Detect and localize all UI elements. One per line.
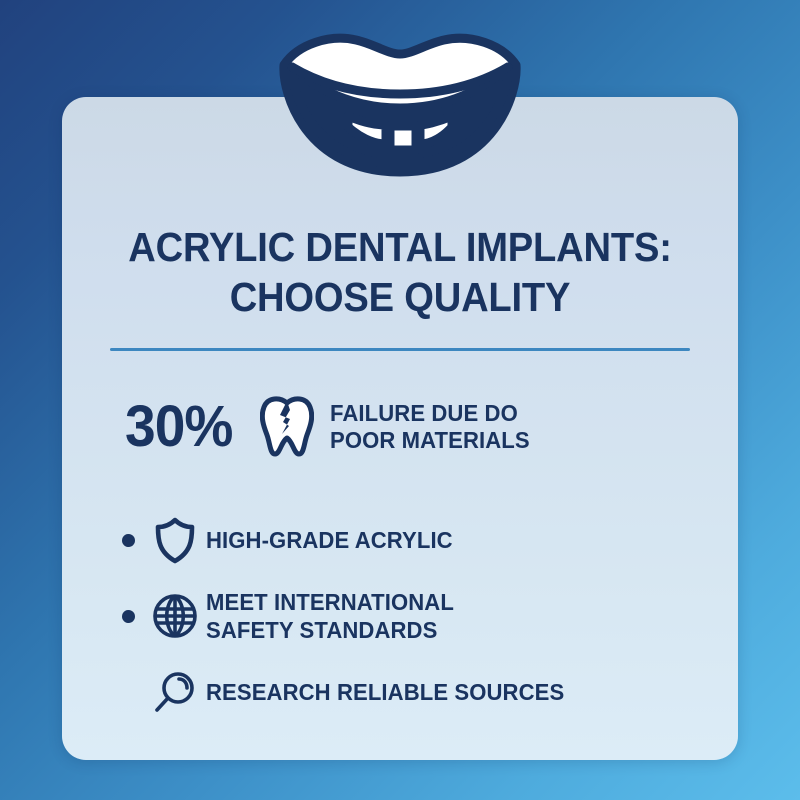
list-item-label-line-2: SAFETY STANDARDS bbox=[206, 616, 454, 644]
list-item-label: HIGH-GRADE ACRYLIC bbox=[206, 526, 453, 554]
statistic-label-line-1: FAILURE DUE DO bbox=[330, 400, 530, 427]
title-line-1: ACRYLIC DENTAL IMPLANTS: bbox=[86, 222, 715, 272]
infographic-poster: ACRYLIC DENTAL IMPLANTS: CHOOSE QUALITY … bbox=[0, 0, 800, 800]
list-item-label-line-1: MEET INTERNATIONAL bbox=[206, 588, 454, 616]
page-title: ACRYLIC DENTAL IMPLANTS: CHOOSE QUALITY bbox=[62, 222, 738, 322]
magnifying-glass-icon bbox=[151, 668, 199, 716]
list-item-label: MEET INTERNATIONAL SAFETY STANDARDS bbox=[206, 588, 454, 644]
bullet-icon-cell bbox=[144, 592, 206, 640]
bullet-dot-cell bbox=[112, 610, 144, 623]
list-item: HIGH-GRADE ACRYLIC bbox=[112, 512, 712, 568]
statistic-label: FAILURE DUE DO POOR MATERIALS bbox=[330, 400, 530, 454]
title-divider bbox=[110, 348, 690, 351]
list-item: MEET INTERNATIONAL SAFETY STANDARDS bbox=[112, 588, 712, 644]
smiling-mouth-teeth-icon bbox=[278, 28, 522, 178]
globe-icon bbox=[151, 592, 199, 640]
bullet-dot-cell bbox=[112, 534, 144, 547]
list-item: RESEARCH RELIABLE SOURCES bbox=[112, 664, 712, 720]
statistic-value: 30% bbox=[125, 396, 232, 458]
statistic-row: 30% FAILURE DUE DO POOR MATERIALS bbox=[125, 396, 543, 458]
bullet-icon-cell bbox=[144, 668, 206, 716]
shield-icon bbox=[154, 516, 196, 564]
list-item-label-line-1: RESEARCH RELIABLE SOURCES bbox=[206, 678, 564, 706]
bullet-dot-icon bbox=[122, 610, 135, 623]
statistic-label-line-2: POOR MATERIALS bbox=[330, 427, 530, 454]
list-item-label: RESEARCH RELIABLE SOURCES bbox=[206, 678, 564, 706]
bullet-dot-icon bbox=[122, 534, 135, 547]
cracked-tooth-icon bbox=[260, 396, 314, 458]
benefits-list: HIGH-GRADE ACRYLIC bbox=[112, 512, 712, 740]
bullet-icon-cell bbox=[144, 516, 206, 564]
list-item-label-line-1: HIGH-GRADE ACRYLIC bbox=[206, 526, 453, 554]
title-line-2: CHOOSE QUALITY bbox=[86, 272, 715, 322]
